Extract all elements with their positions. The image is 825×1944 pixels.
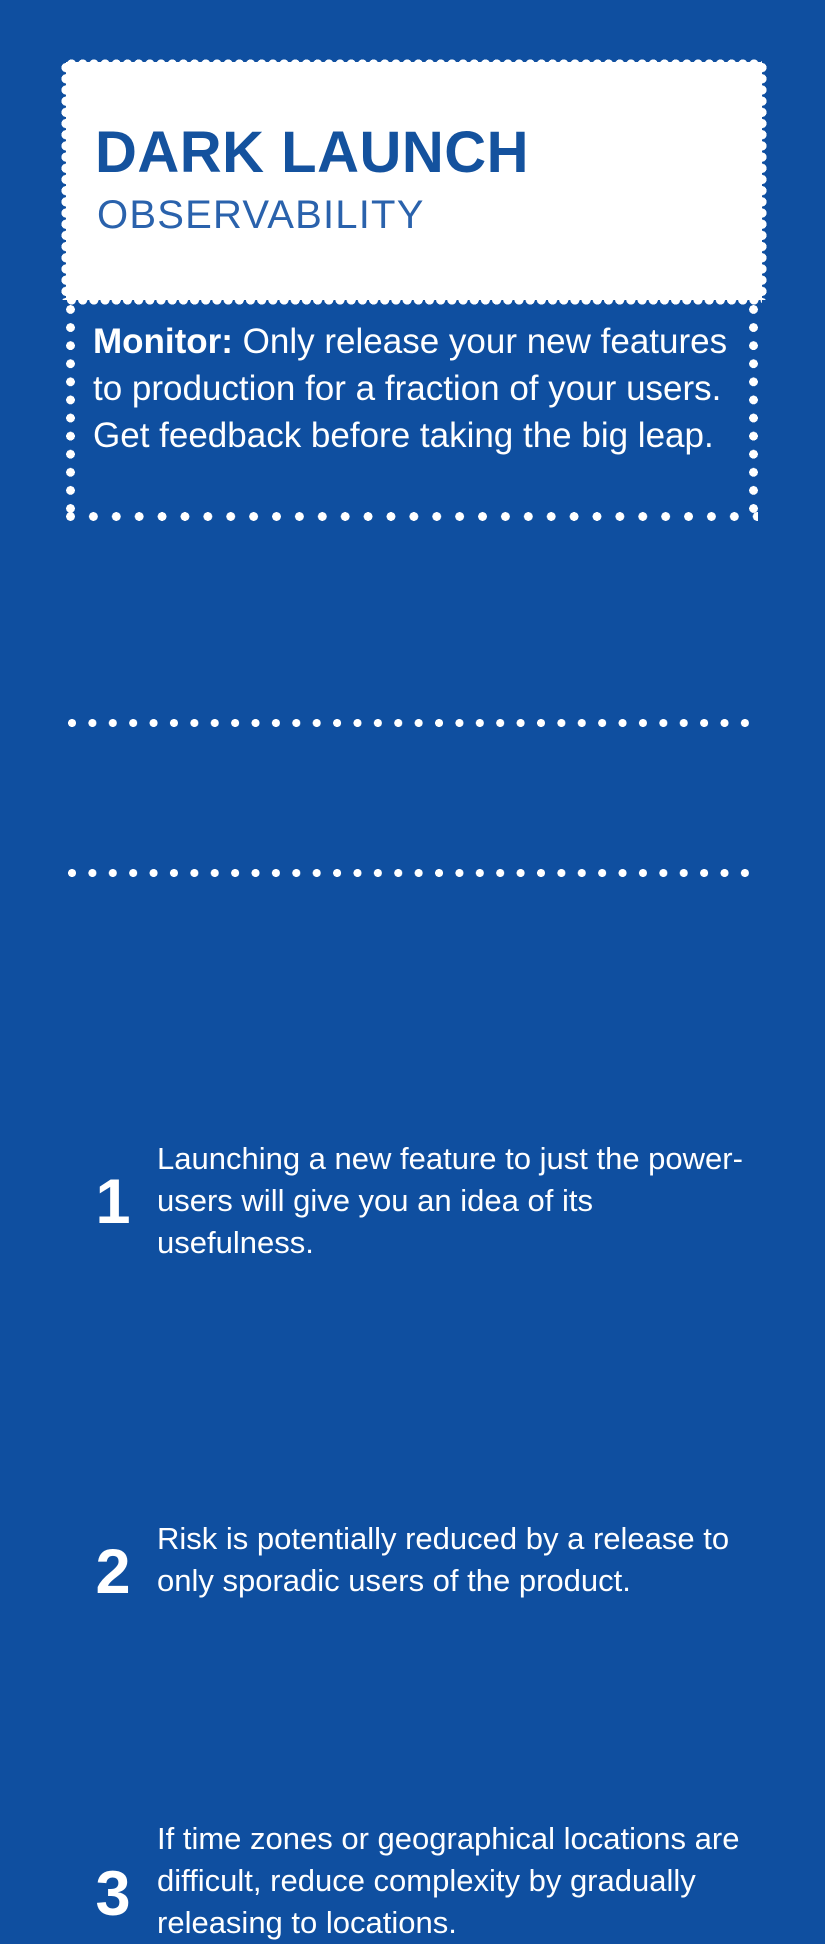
header-card: DARK LAUNCH OBSERVABILITY	[66, 62, 762, 300]
stamp-edge-left	[57, 62, 66, 300]
list-item-number: 1	[80, 1171, 146, 1234]
page-subtitle: OBSERVABILITY	[97, 195, 425, 235]
stamp-edge-right	[762, 62, 771, 300]
dotted-border-left	[66, 305, 75, 521]
list-item-text: Risk is potentially reduced by a release…	[157, 1518, 757, 1602]
dotted-border-right	[749, 305, 758, 521]
list-divider	[68, 719, 760, 727]
monitor-label: Monitor:	[93, 322, 233, 361]
monitor-callout-text: Monitor: Only release your new features …	[93, 318, 733, 459]
list-divider	[68, 869, 760, 877]
list-item-text: If time zones or geographical locations …	[157, 1818, 757, 1944]
list-item-number: 3	[80, 1863, 146, 1926]
list-item-number: 2	[80, 1541, 146, 1604]
list-item-text: Launching a new feature to just the powe…	[157, 1138, 757, 1264]
page-title: DARK LAUNCH	[95, 124, 529, 182]
dotted-border-bottom	[66, 512, 758, 521]
dark-launch-card: { "theme": { "background_blue": "#0f4fa0…	[0, 0, 825, 1329]
